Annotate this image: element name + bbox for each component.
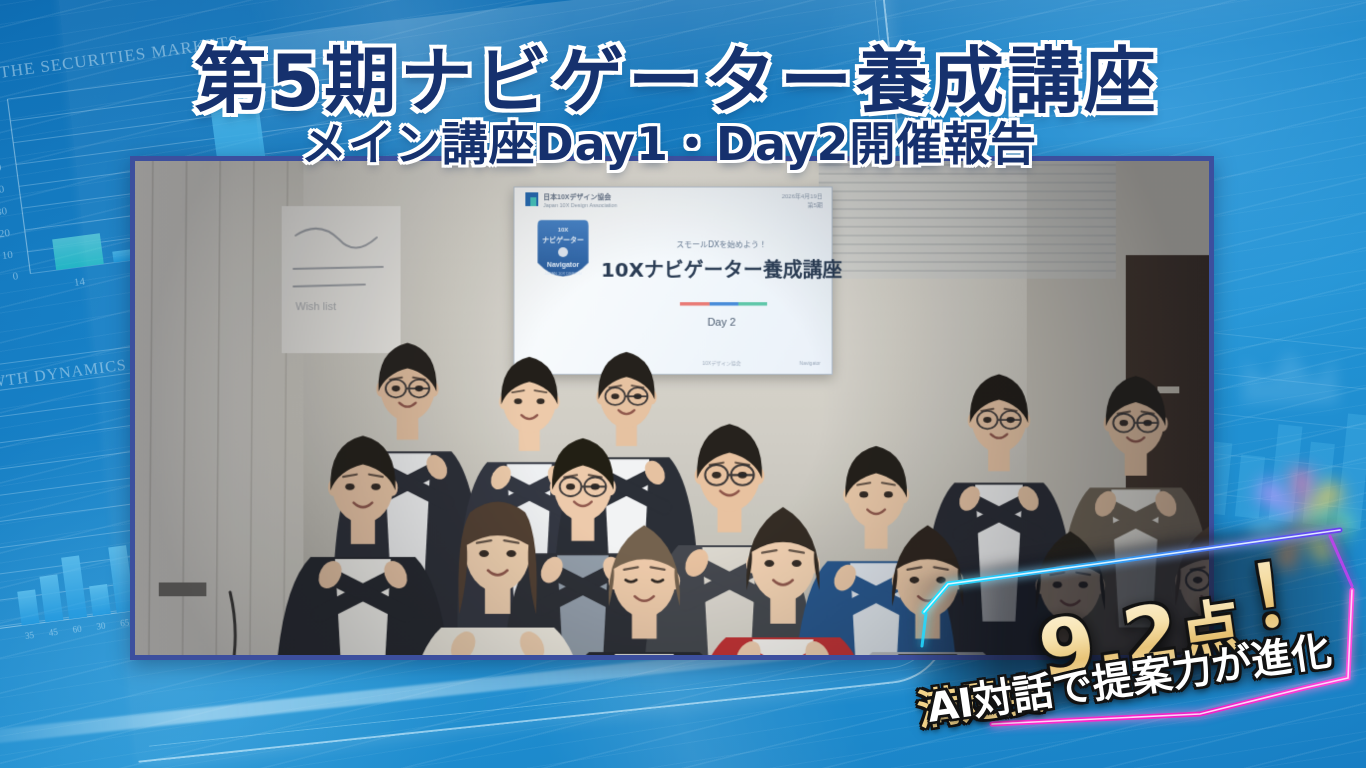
poster-canvas: ON THE SECURITIES MARKETS 8070 6050 4030… (0, 0, 1366, 768)
group-photo-image (135, 161, 1209, 655)
group-photo (130, 156, 1214, 660)
